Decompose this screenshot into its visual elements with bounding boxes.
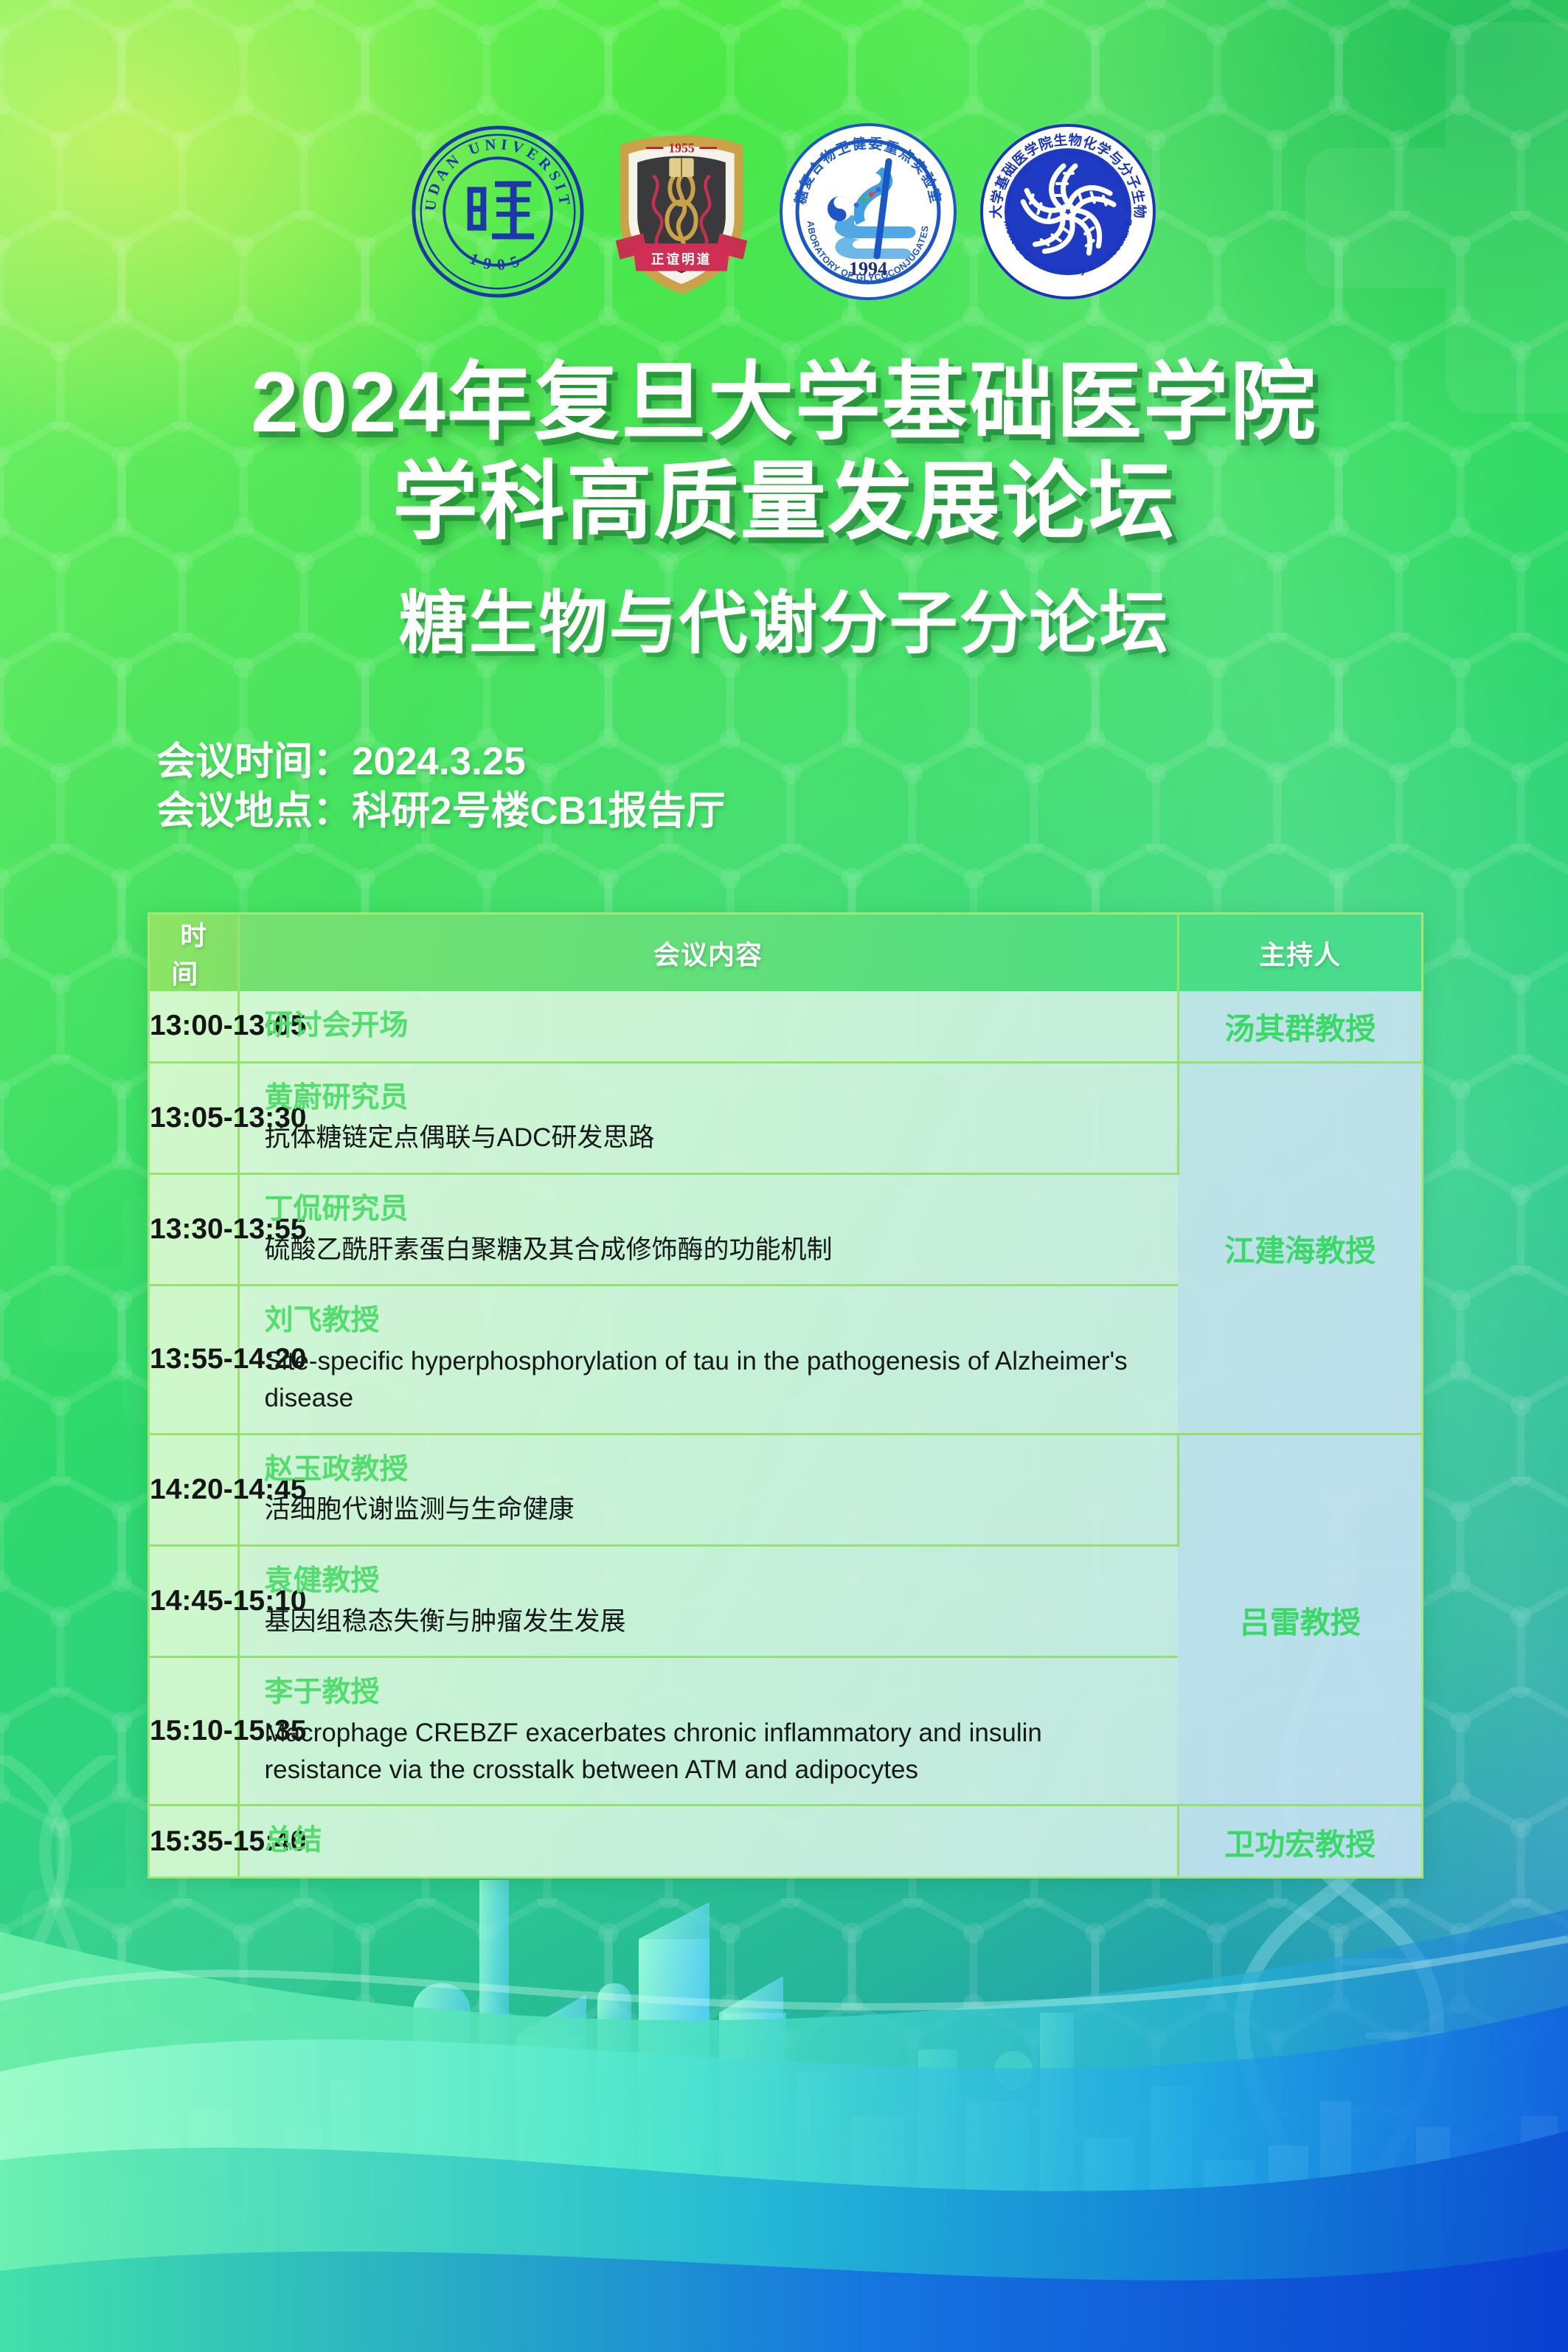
- row-speaker: 研讨会开场: [265, 1007, 1152, 1045]
- row-topic: 硫酸乙酰肝素蛋白聚糖及其合成修饰酶的功能机制: [265, 1232, 1154, 1269]
- table-row: 13:00-13:05 研讨会开场 汤其群教授: [150, 991, 1421, 1062]
- poster-root: FUDAN UNIVERSITY 1905: [0, 0, 1568, 2352]
- row-speaker: 总结: [265, 1822, 1152, 1860]
- row-topic: 活细胞代谢监测与生命健康: [265, 1491, 1152, 1528]
- table-row: 15:35-15:40 总结 卫功宏教授: [150, 1805, 1421, 1876]
- row-content: 赵玉政教授 活细胞代谢监测与生命健康: [238, 1434, 1178, 1545]
- meeting-place-line: 会议地点：科研2号楼CB1报告厅: [156, 787, 726, 836]
- row-time: 13:00-13:05: [150, 991, 238, 1062]
- row-time: 14:45-15:10: [150, 1545, 238, 1657]
- row-time: 13:05-13:30: [150, 1062, 238, 1173]
- department-biochemistry-molecular-biology-seal-logo: 复旦大学基础医学院生物化学与分子生物学系 School of Basic Med…: [979, 122, 1157, 301]
- agenda-table-body: 13:00-13:05 研讨会开场 汤其群教授 13:05-13:30 黄蔚研究…: [150, 991, 1421, 1876]
- row-topic: Macrophage CREBZF exacerbates chronic in…: [265, 1715, 1154, 1788]
- poster-title-line1: 2024年复旦大学基础医学院: [0, 353, 1568, 452]
- table-row: 13:05-13:30 黄蔚研究员 抗体糖链定点偶联与ADC研发思路 江建海教授: [150, 1062, 1421, 1173]
- row-content: 研讨会开场: [238, 991, 1178, 1062]
- fudan-university-seal-logo: FUDAN UNIVERSITY 1905: [411, 125, 585, 299]
- agenda-table: 时 间 会议内容 主持人 13:00-13:05 研讨会开场 汤其群教授 13:…: [150, 915, 1421, 1876]
- svg-text:正谊明道: 正谊明道: [651, 251, 712, 267]
- title-block: 2024年复旦大学基础医学院 学科高质量发展论坛 糖生物与代谢分子分论坛: [0, 353, 1568, 667]
- row-speaker: 丁侃研究员: [265, 1191, 1154, 1229]
- row-content: 李于教授 Macrophage CREBZF exacerbates chron…: [238, 1657, 1178, 1805]
- row-content: 袁健教授 基因组稳态失衡与肿瘤发生发展: [238, 1545, 1178, 1657]
- row-speaker: 黄蔚研究员: [265, 1080, 1152, 1117]
- column-header-time: 时 间: [150, 915, 238, 991]
- row-host: 汤其群教授: [1178, 991, 1421, 1062]
- svg-text:1955: 1955: [668, 141, 694, 156]
- row-time: 15:35-15:40: [150, 1805, 238, 1876]
- column-header-content: 会议内容: [238, 915, 1178, 991]
- row-content: 丁侃研究员 硫酸乙酰肝素蛋白聚糖及其合成修饰酶的功能机制: [238, 1174, 1178, 1286]
- row-speaker: 赵玉政教授: [265, 1451, 1152, 1489]
- row-host: 卫功宏教授: [1178, 1805, 1421, 1876]
- row-speaker: 袁健教授: [265, 1563, 1154, 1600]
- row-content: 刘飞教授 Site-specific hyperphosphorylation …: [238, 1286, 1178, 1434]
- school-of-basic-medical-sciences-crest-logo: 1955 正谊明道: [606, 125, 757, 299]
- column-header-host: 主持人: [1178, 915, 1421, 991]
- row-content: 黄蔚研究员 抗体糖链定点偶联与ADC研发思路: [238, 1062, 1178, 1173]
- meeting-time-line: 会议时间：2024.3.25: [156, 738, 726, 787]
- table-row: 14:20-14:45 赵玉政教授 活细胞代谢监测与生命健康 吕雷教授: [150, 1434, 1421, 1545]
- row-topic: 抗体糖链定点偶联与ADC研发思路: [265, 1120, 1152, 1156]
- row-topic: Site-specific hyperphosphorylation of ta…: [265, 1343, 1154, 1416]
- row-speaker: 刘飞教授: [265, 1302, 1154, 1340]
- svg-text:1905: 1905: [467, 249, 528, 274]
- poster-title-line2: 学科高质量发展论坛: [0, 452, 1568, 552]
- agenda-table-container: 时 间 会议内容 主持人 13:00-13:05 研讨会开场 汤其群教授 13:…: [148, 912, 1423, 1879]
- row-time: 15:10-15:35: [150, 1657, 238, 1805]
- agenda-table-head: 时 间 会议内容 主持人: [150, 915, 1421, 991]
- nhc-key-laboratory-seal-logo: 糖复合物卫健委重点实验室 NHC KEY LABORATORY OF GLYCO…: [778, 122, 958, 302]
- row-speaker: 李于教授: [265, 1674, 1154, 1712]
- poster-subtitle: 糖生物与代谢分子分论坛: [0, 567, 1568, 667]
- agenda-header-row: 时 间 会议内容 主持人: [150, 915, 1421, 991]
- row-host: 吕雷教授: [1178, 1434, 1421, 1805]
- row-time: 13:55-14:20: [150, 1286, 238, 1434]
- row-time: 13:30-13:55: [150, 1174, 238, 1286]
- row-content: 总结: [238, 1805, 1178, 1876]
- logo-row: FUDAN UNIVERSITY 1905: [0, 122, 1568, 302]
- row-topic: 基因组稳态失衡与肿瘤发生发展: [265, 1603, 1154, 1640]
- meeting-info-block: 会议时间：2024.3.25 会议地点：科研2号楼CB1报告厅: [156, 738, 726, 836]
- svg-text:1994: 1994: [849, 258, 887, 280]
- row-time: 14:20-14:45: [150, 1434, 238, 1545]
- row-host: 江建海教授: [1178, 1062, 1421, 1434]
